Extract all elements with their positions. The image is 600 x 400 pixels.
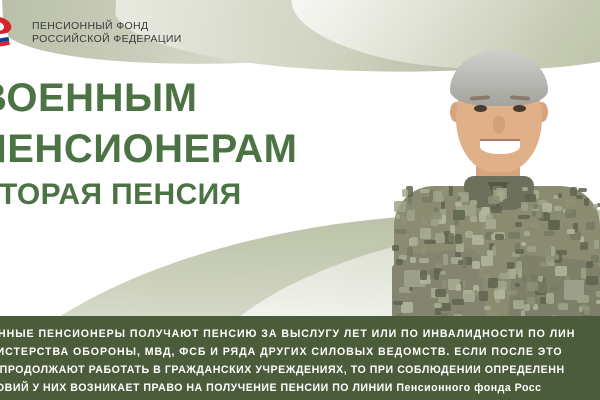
headline-line-1: ВОЕННЫМ	[0, 78, 298, 118]
banner-line-1: ЕННЫЕ ПЕНСИОНЕРЫ ПОЛУЧАЮТ ПЕНСИЮ ЗА ВЫСЛ…	[0, 325, 600, 343]
info-text-banner: ЕННЫЕ ПЕНСИОНЕРЫ ПОЛУЧАЮТ ПЕНСИЮ ЗА ВЫСЛ…	[0, 316, 600, 400]
headline-line-3: ВТОРАЯ ПЕНСИЯ	[0, 180, 298, 210]
soldier-photo	[392, 36, 600, 322]
mouth	[480, 139, 520, 154]
banner-line-2: НИСТЕРСТВА ОБОРОНЫ, МВД, ФСБ И РЯДА ДРУГ…	[0, 343, 600, 361]
nose	[493, 116, 505, 134]
eye-right	[513, 105, 526, 112]
logo-line-2: РОССИЙСКОЙ ФЕДЕРАЦИИ	[32, 33, 182, 46]
pension-fund-banner: ПЕНСИОННЫЙ ФОНД РОССИЙСКОЙ ФЕДЕРАЦИИ ВОЕ…	[0, 0, 600, 400]
logo-line-1: ПЕНСИОННЫЙ ФОНД	[32, 20, 182, 33]
logo-text: ПЕНСИОННЫЙ ФОНД РОССИЙСКОЙ ФЕДЕРАЦИИ	[32, 20, 182, 47]
hair	[450, 50, 548, 106]
banner-line-4: ЛОВИЙ У НИХ ВОЗНИКАЕТ ПРАВО НА ПОЛУЧЕНИЕ…	[0, 379, 600, 397]
pension-fund-logo: ПЕНСИОННЫЙ ФОНД РОССИЙСКОЙ ФЕДЕРАЦИИ	[0, 14, 182, 52]
banner-line-3: И ПРОДОЛЖАЮТ РАБОТАТЬ В ГРАЖДАНСКИХ УЧРЕ…	[0, 361, 600, 379]
headline-line-2: ПЕНСИОНЕРАМ	[0, 129, 298, 169]
pfr-emblem-icon	[0, 14, 24, 52]
eye-left	[474, 105, 487, 112]
headline: ВОЕННЫМ ПЕНСИОНЕРАМ ВТОРАЯ ПЕНСИЯ	[0, 78, 298, 210]
